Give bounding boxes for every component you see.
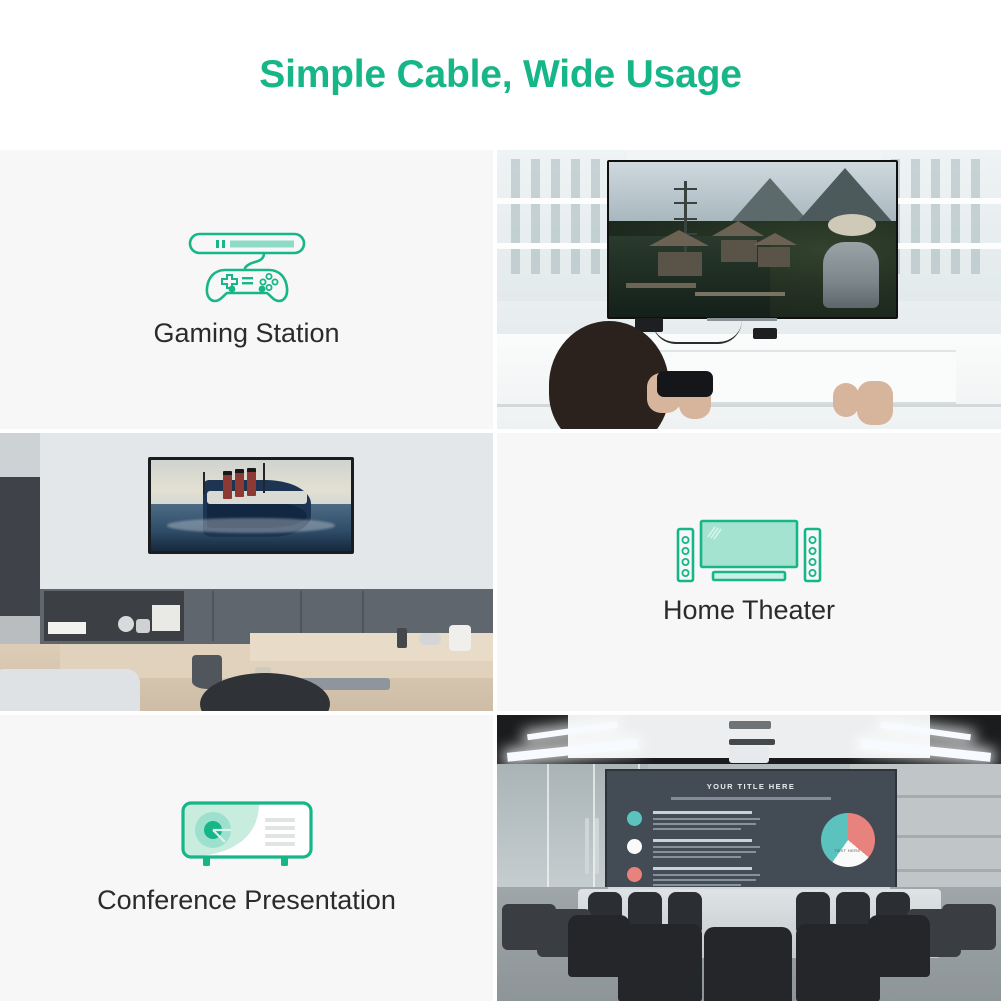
- game-console-controller-icon: [172, 230, 322, 308]
- header: Simple Cable, Wide Usage: [0, 0, 1001, 150]
- slide-bullet-text-1: [653, 811, 762, 833]
- presentation-slide: YOUR TITLE HERE: [605, 769, 896, 896]
- slide-pie-label: TEXT HERE: [835, 848, 861, 853]
- panel-living-room-photo: [0, 433, 493, 711]
- slide-bullet-marker-2: [627, 839, 642, 854]
- projector-icon: [181, 801, 313, 875]
- slide-bullet-marker-3: [627, 867, 642, 882]
- slide-bullet-marker-1: [627, 811, 642, 826]
- gaming-scene-image: [497, 150, 1001, 429]
- slide-pie-chart: TEXT HERE: [821, 813, 875, 867]
- slide-subtitle: [671, 797, 832, 800]
- slide-bullet-text-2: [653, 839, 762, 861]
- living-room-scene-image: [0, 433, 493, 711]
- panel-home-theater: Home Theater: [497, 433, 1001, 711]
- panel-label: Home Theater: [663, 595, 835, 626]
- panel-conference-presentation: Conference Presentation: [0, 715, 493, 1001]
- tv-with-speakers-icon: [675, 519, 823, 585]
- panel-gaming-photo: [497, 150, 1001, 429]
- promo-page: Simple Cable, Wide Usage: [0, 0, 1001, 1001]
- panel-conference-photo: YOUR TITLE HERE: [497, 715, 1001, 1001]
- panel-label: Gaming Station: [153, 318, 339, 349]
- panel-label: Conference Presentation: [97, 885, 396, 916]
- feature-grid: Gaming Station: [0, 150, 1001, 1001]
- conference-room-scene-image: YOUR TITLE HERE: [497, 715, 1001, 1001]
- panel-gaming-station: Gaming Station: [0, 150, 493, 429]
- page-title: Simple Cable, Wide Usage: [259, 53, 742, 97]
- slide-title: YOUR TITLE HERE: [607, 782, 894, 791]
